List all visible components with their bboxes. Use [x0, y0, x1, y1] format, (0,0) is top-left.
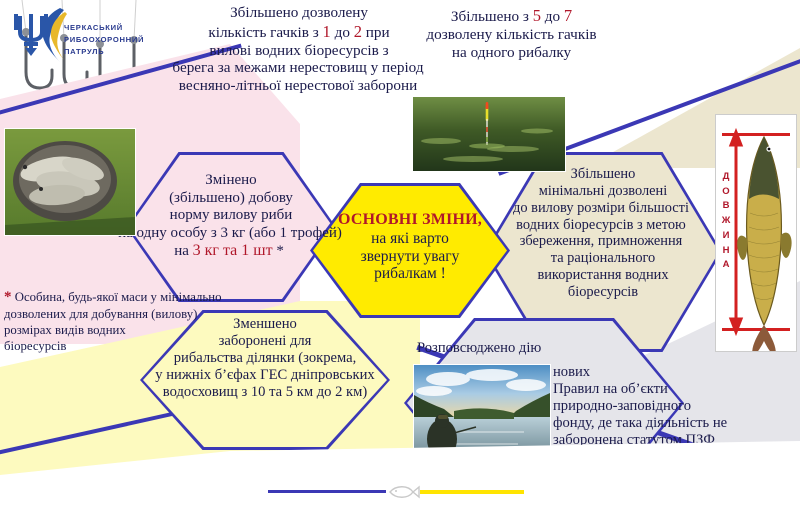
norm-line-3: норму вилову риби — [128, 207, 334, 225]
length-letter: В — [723, 200, 730, 211]
fish-outline-icon — [386, 483, 420, 501]
hooks57-line-3: на одного рибалку — [404, 44, 619, 62]
photo-fishing-float-on-water — [412, 96, 566, 172]
norm-l5-star: * — [273, 243, 284, 259]
text-block-restricted-areas: Зменшено заборонені для рибальства ділян… — [142, 316, 388, 401]
text-block-nature-reserve-fund: Розповсюджено дію — [417, 340, 647, 357]
text-block-hooks-5-to-7: Збільшено з 5 до 7 дозволену кількість г… — [404, 6, 619, 61]
sizes-line-8: біоресурсів — [482, 284, 724, 301]
pzf-line-3: Правил на об’єкти — [553, 381, 800, 398]
norm-l5-pre: на — [174, 243, 192, 259]
norm-line-2: (збільшено) добову — [128, 190, 334, 208]
hooks57-line-2: дозволену кількість гачків — [404, 26, 619, 44]
sizes-line-4: водних біоресурсів з метою — [477, 217, 725, 234]
hooks12-line-2: кількість гачків з 1 до 2 при — [188, 22, 410, 42]
logo-line-3: ПАТРУЛЬ — [64, 46, 144, 58]
hooks12-l2-to: до — [335, 24, 350, 41]
sizes-line-6: та раціонального — [482, 250, 724, 267]
hooks12-l2-from: з — [313, 24, 319, 41]
hooks57-line-1: Збільшено з 5 до 7 — [404, 6, 619, 26]
text-block-minimum-sizes: Збільшено мінімальні дозволені до вилову… — [482, 166, 724, 301]
hooks12-l2-post: при — [362, 24, 390, 41]
logo-line-2: РИБООХОРОННИЙ — [64, 34, 144, 46]
hooks57-l1-to: до — [545, 8, 560, 25]
footnote-line-1: * Особина, будь-якої маси у мінімально — [4, 288, 266, 307]
hooks57-value-from: 5 — [533, 6, 541, 25]
footer-bar — [0, 475, 800, 509]
sizes-line-5: збереження, примноження — [477, 233, 725, 250]
norm-new-limit: 3 кг та 1 шт — [193, 242, 273, 259]
footer-rule-blue — [268, 490, 386, 493]
text-block-nature-reserve-fund-body: нових Правил на об’єкти природно-заповід… — [553, 364, 800, 449]
infographic-poster: Д О В Ж И Н А — [0, 0, 800, 509]
norm-line-4: на одну особу з 3 кг (або 1 трофей) — [96, 225, 364, 243]
text-block-hooks-1-to-2: Збільшено дозволену кількість гачків з 1… — [188, 4, 410, 95]
length-letter: А — [723, 259, 730, 270]
logo-line-1: ЧЕРКАСЬКИЙ — [64, 22, 144, 34]
areas-line-3: рибальства ділянки (зокрема, — [127, 350, 403, 367]
areas-line-1: Зменшено — [142, 316, 388, 333]
hooks12-line-3: вилові водних біоресурсів з — [170, 42, 428, 60]
pzf-line-4: природно-заповідного — [553, 398, 800, 415]
hooks12-value-to: 2 — [354, 22, 362, 41]
hooks57-value-to: 7 — [564, 6, 572, 25]
areas-line-5: водосховищ з 10 та 5 км до 2 км) — [115, 384, 415, 401]
sizes-line-2: мінімальні дозволені — [482, 183, 724, 200]
footnote-l1: Особина, будь-якої маси у мінімально — [12, 290, 222, 304]
length-letter: И — [723, 230, 730, 241]
length-letter: Ж — [722, 215, 731, 226]
hooks12-l2-pre: кількість гачків — [208, 24, 312, 41]
length-letter: О — [722, 186, 729, 197]
length-letter: Д — [723, 171, 730, 182]
pzf-line-5: фонду, де така діяльність не — [553, 415, 800, 432]
pzf-line-1: Розповсюджено дію — [417, 340, 647, 357]
fish-length-label: Д О В Ж И Н А — [720, 170, 732, 273]
areas-line-4: у нижніх б’єфах ГЕС дніпровських — [115, 367, 415, 384]
sizes-line-7: використання водних — [482, 267, 724, 284]
norm-line-1: Змінено — [128, 172, 334, 190]
hooks12-line-4: берега за межами нерестовищ у період — [148, 59, 448, 77]
logo-text: ЧЕРКАСЬКИЙ РИБООХОРОННИЙ ПАТРУЛЬ — [64, 22, 144, 57]
sizes-line-3: до вилову розміри більшості — [477, 200, 725, 217]
hooks12-value-from: 1 — [323, 22, 331, 41]
hooks57-l1-pre: Збільшено — [451, 8, 523, 25]
photo-fish-in-landing-net — [4, 128, 136, 236]
hooks57-l1-from: з — [523, 8, 529, 25]
areas-line-2: заборонені для — [142, 333, 388, 350]
hooks12-line-5: весняно-літньої нерестової заборони — [148, 77, 448, 95]
hooks12-line-1: Збільшено дозволену — [188, 4, 410, 22]
footer-rule-yellow — [420, 490, 524, 494]
footnote-asterisk: * — [4, 289, 12, 305]
center-hex-line-4: рибалкам ! — [312, 265, 508, 283]
length-letter: Н — [723, 245, 730, 256]
pzf-line-2: нових — [553, 364, 800, 381]
text-block-daily-catch-norm: Змінено (збільшено) добову норму вилову … — [128, 172, 334, 261]
norm-line-5: на 3 кг та 1 шт * — [104, 242, 354, 261]
organisation-logo: ЧЕРКАСЬКИЙ РИБООХОРОННИЙ ПАТРУЛЬ — [6, 6, 176, 64]
